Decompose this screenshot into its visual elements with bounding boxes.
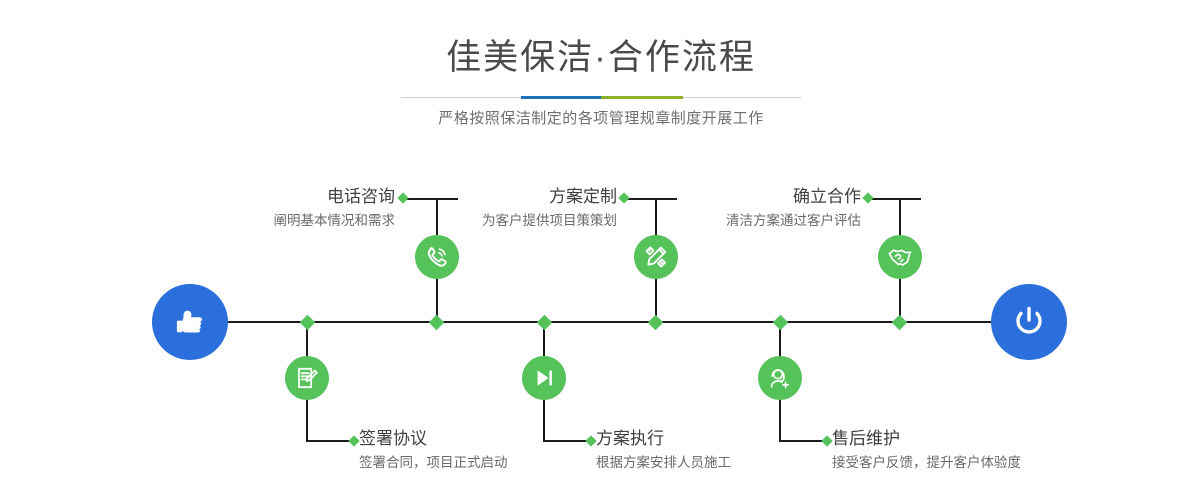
phone-call-icon bbox=[424, 244, 450, 270]
bottom-step-2-title: 方案执行 bbox=[596, 428, 731, 450]
top-step-2-connector-horizontal bbox=[625, 198, 677, 200]
top-step-1-label: 电话咨询 阐明基本情况和需求 bbox=[274, 186, 396, 231]
top-step-2-axis-marker bbox=[648, 315, 664, 331]
document-edit-icon bbox=[295, 366, 319, 390]
bottom-step-3-desc: 接受客户反馈，提升客户体验度 bbox=[832, 453, 1021, 473]
bottom-step-2-label: 方案执行 根据方案安排人员施工 bbox=[596, 428, 731, 473]
bottom-step-1-label-marker bbox=[348, 435, 359, 446]
top-step-3-label: 确立合作 清洁方案通过客户评估 bbox=[726, 186, 861, 231]
bottom-step-1-title: 签署协议 bbox=[359, 428, 508, 450]
play-skip-icon bbox=[532, 366, 556, 390]
bottom-step-3-icon-circle[interactable] bbox=[758, 356, 802, 400]
top-step-1-connector-horizontal bbox=[404, 198, 458, 200]
divider-segment-blue bbox=[521, 96, 601, 99]
bottom-step-1-desc: 签署合同，项目正式启动 bbox=[359, 453, 508, 473]
top-step-2-icon-circle[interactable] bbox=[634, 235, 678, 279]
bottom-step-2-icon-circle[interactable] bbox=[522, 356, 566, 400]
bottom-step-1-label: 签署协议 签署合同，项目正式启动 bbox=[359, 428, 508, 473]
top-step-1-title: 电话咨询 bbox=[274, 186, 396, 208]
handshake-icon bbox=[887, 244, 913, 270]
top-step-2-desc: 为客户提供项目策策划 bbox=[482, 211, 617, 231]
title-divider bbox=[401, 96, 801, 99]
top-step-3-icon-circle[interactable] bbox=[878, 235, 922, 279]
bottom-step-3-title: 售后维护 bbox=[832, 428, 1021, 450]
power-icon bbox=[1008, 301, 1050, 343]
top-step-3-desc: 清洁方案通过客户评估 bbox=[726, 211, 861, 231]
top-step-3-title: 确立合作 bbox=[726, 186, 861, 208]
bottom-step-2-axis-marker bbox=[537, 315, 553, 331]
bottom-step-3-label: 售后维护 接受客户反馈，提升客户体验度 bbox=[832, 428, 1021, 473]
thumbs-up-pointer-icon bbox=[170, 302, 210, 342]
flow-end-endpoint[interactable] bbox=[991, 284, 1067, 360]
bottom-step-3-axis-marker bbox=[773, 315, 789, 331]
top-step-1-axis-marker bbox=[429, 315, 445, 331]
top-step-2-label-marker bbox=[618, 192, 629, 203]
bottom-step-2-label-marker bbox=[585, 435, 596, 446]
divider-segment-green bbox=[601, 96, 683, 99]
pencil-ruler-icon bbox=[643, 244, 669, 270]
top-step-2-label: 方案定制 为客户提供项目策策划 bbox=[482, 186, 617, 231]
bottom-step-2-connector-horizontal bbox=[543, 440, 591, 442]
flow-start-endpoint[interactable] bbox=[152, 284, 228, 360]
bottom-step-3-label-marker bbox=[821, 435, 832, 446]
top-step-3-axis-marker bbox=[892, 315, 908, 331]
cooperation-flow-infographic: 佳美保洁·合作流程 严格按照保洁制定的各项管理规章制度开展工作 电话咨询 阐明基… bbox=[0, 0, 1202, 502]
bottom-step-2-desc: 根据方案安排人员施工 bbox=[596, 453, 731, 473]
bottom-step-1-icon-circle[interactable] bbox=[285, 356, 329, 400]
top-step-1-icon-circle[interactable] bbox=[415, 235, 459, 279]
top-step-1-label-marker bbox=[397, 192, 408, 203]
top-step-3-label-marker bbox=[862, 192, 873, 203]
page-title: 佳美保洁·合作流程 bbox=[0, 36, 1202, 80]
top-step-1-desc: 阐明基本情况和需求 bbox=[274, 211, 396, 231]
bottom-step-3-connector-horizontal bbox=[779, 440, 827, 442]
page-subtitle: 严格按照保洁制定的各项管理规章制度开展工作 bbox=[0, 107, 1202, 128]
bottom-step-1-axis-marker bbox=[300, 315, 316, 331]
top-step-2-title: 方案定制 bbox=[482, 186, 617, 208]
headset-support-icon bbox=[768, 366, 792, 390]
bottom-step-1-connector-horizontal bbox=[306, 440, 354, 442]
top-step-3-connector-horizontal bbox=[869, 198, 921, 200]
